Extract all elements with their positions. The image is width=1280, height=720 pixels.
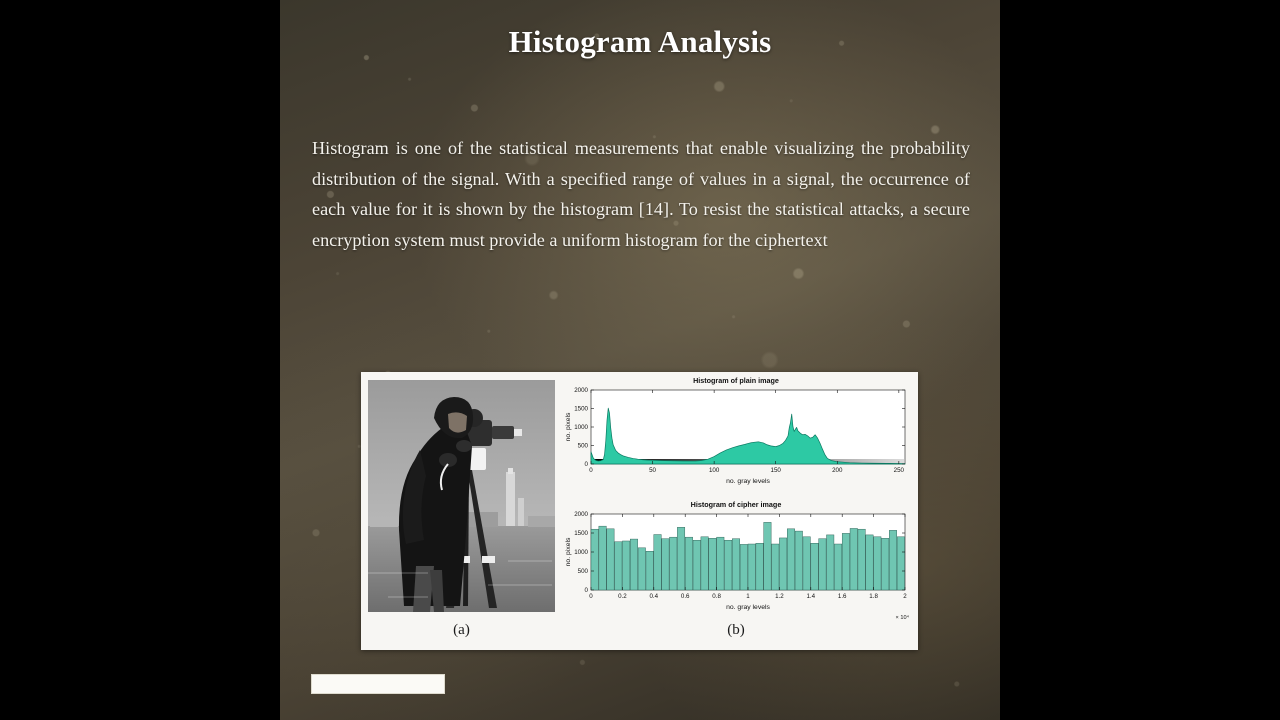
figure-card: (a) (b) Histogram of plain image 0501001…: [361, 372, 918, 650]
cameraman-illustration: [368, 380, 555, 612]
svg-text:0: 0: [585, 587, 589, 594]
svg-text:100: 100: [709, 467, 720, 474]
svg-text:50: 50: [649, 467, 656, 474]
svg-text:no. pixels: no. pixels: [565, 537, 572, 566]
svg-text:0: 0: [589, 467, 593, 474]
svg-text:no. gray levels: no. gray levels: [726, 478, 770, 485]
svg-text:1.6: 1.6: [838, 593, 847, 600]
svg-text:1.4: 1.4: [806, 593, 815, 600]
cameraman-image: [368, 380, 555, 612]
svg-text:1.8: 1.8: [869, 593, 878, 600]
figure-caption-b: (b): [561, 622, 911, 639]
page-title: Histogram Analysis: [280, 24, 1000, 60]
plain-histogram-title: Histogram of plain image: [561, 376, 911, 385]
svg-text:no. gray levels: no. gray levels: [726, 604, 770, 611]
plain-histogram-block: Histogram of plain image 050100150200250…: [561, 376, 911, 494]
svg-text:500: 500: [578, 568, 589, 575]
svg-text:2000: 2000: [574, 387, 588, 394]
svg-text:0: 0: [589, 593, 593, 600]
svg-text:0.6: 0.6: [681, 593, 690, 600]
svg-text:1.2: 1.2: [775, 593, 784, 600]
white-placeholder-box[interactable]: [311, 674, 445, 694]
slide-content-area: Histogram Analysis Histogram is one of t…: [280, 0, 1000, 720]
cipher-histogram-block: Histogram of cipher image 00.20.40.60.81…: [561, 500, 911, 620]
svg-text:1000: 1000: [574, 549, 588, 556]
svg-text:0.8: 0.8: [712, 593, 721, 600]
figure-caption-a: (a): [368, 622, 555, 639]
svg-text:no. pixels: no. pixels: [565, 412, 572, 441]
plain-histogram-chart: 0501001502002500500100015002000no. gray …: [561, 386, 911, 494]
svg-text:2: 2: [903, 593, 907, 600]
figure-inner: (a) (b) Histogram of plain image 0501001…: [361, 372, 918, 650]
svg-text:0: 0: [585, 461, 589, 468]
svg-text:500: 500: [578, 443, 589, 450]
svg-text:0.2: 0.2: [618, 593, 627, 600]
svg-text:250: 250: [894, 467, 905, 474]
svg-text:1000: 1000: [574, 424, 588, 431]
body-paragraph: Histogram is one of the statistical meas…: [312, 133, 970, 255]
screen-root: Histogram Analysis Histogram is one of t…: [0, 0, 1280, 720]
x-axis-multiplier-label: × 10⁴: [896, 615, 909, 621]
svg-text:2000: 2000: [574, 511, 588, 518]
cipher-histogram-chart: 00.20.40.60.811.21.41.61.820500100015002…: [561, 510, 911, 620]
svg-text:150: 150: [771, 467, 782, 474]
svg-text:1500: 1500: [574, 406, 588, 413]
svg-text:0.4: 0.4: [649, 593, 658, 600]
svg-text:1500: 1500: [574, 530, 588, 537]
cipher-histogram-title: Histogram of cipher image: [561, 500, 911, 509]
svg-text:200: 200: [832, 467, 843, 474]
svg-text:1: 1: [746, 593, 750, 600]
charts-column: Histogram of plain image 050100150200250…: [561, 376, 911, 618]
